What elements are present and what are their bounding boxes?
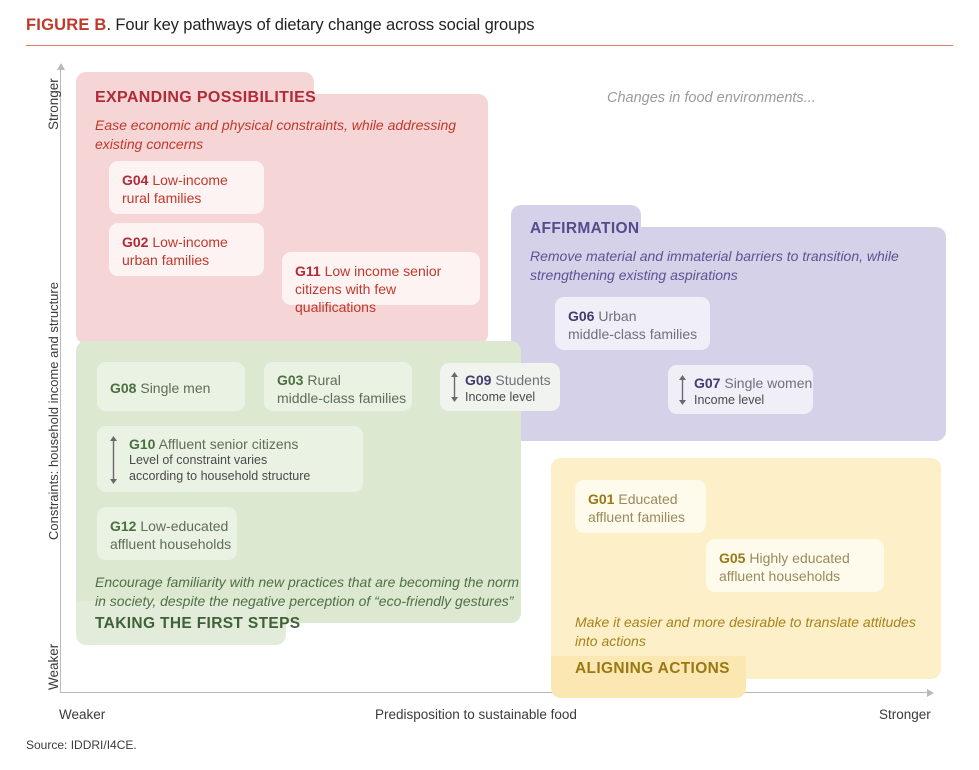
panel-title-affirmation: AFFIRMATION (530, 220, 639, 238)
panel-description-taking-the-first-steps: Encourage familiarity with new practices… (95, 573, 520, 611)
group-label: Low-income (148, 172, 227, 188)
double-arrow-icon (677, 374, 690, 406)
panel-description-aligning-actions: Make it easier and more desirable to tra… (575, 613, 925, 651)
header-divider (26, 45, 953, 46)
panel-description-affirmation: Remove material and immaterial barriers … (530, 247, 930, 285)
panel-title-aligning-actions: ALIGNING ACTIONS (575, 660, 730, 678)
group-label-sub: Income level (694, 392, 813, 408)
group-label: Low-educated (136, 518, 228, 534)
source-note: Source: IDDRI/I4CE. (26, 738, 137, 752)
group-id: G06 (568, 308, 594, 324)
group-id: G10 (129, 436, 155, 452)
group-card-g07[interactable]: G07 Single women Income level (668, 365, 813, 414)
group-id: G08 (110, 380, 136, 396)
food-environments-annotation: Changes in food environments... (607, 90, 816, 106)
group-id: G03 (277, 372, 303, 388)
double-arrow-icon (108, 435, 121, 485)
x-axis-title: Predisposition to sustainable food (375, 707, 577, 722)
group-label-line2: middle-class families (277, 390, 406, 406)
y-axis-top-label: Stronger (46, 78, 61, 130)
group-label: Single women (720, 375, 812, 391)
figure-label: FIGURE B (26, 16, 106, 34)
figure-header: FIGURE B. Four key pathways of dietary c… (26, 16, 953, 35)
page-title: FIGURE B. Four key pathways of dietary c… (26, 16, 953, 35)
figure-title-text: . Four key pathways of dietary change ac… (106, 16, 534, 34)
panel-expanding-possibilities[interactable]: EXPANDING POSSIBILITIES Ease economic an… (76, 72, 488, 344)
group-label-line2: middle-class families (568, 326, 697, 342)
group-label: Urban (594, 308, 636, 324)
group-card-g12[interactable]: G12 Low-educated affluent households (97, 507, 237, 560)
group-label: Affluent senior citizens (155, 436, 298, 452)
x-axis-right-label: Stronger (879, 707, 931, 722)
group-id: G11 (295, 263, 321, 279)
panel-aligning-actions[interactable]: Make it easier and more desirable to tra… (551, 458, 941, 698)
y-axis-arrowhead-icon (57, 63, 65, 70)
group-label: Highly educated (745, 550, 849, 566)
group-id: G05 (719, 550, 745, 566)
group-card-g04[interactable]: G04 Low-income rural families (109, 161, 264, 214)
group-id: G07 (694, 375, 720, 391)
group-id: G04 (122, 172, 148, 188)
group-id: G12 (110, 518, 136, 534)
panel-title-taking-the-first-steps: TAKING THE FIRST STEPS (95, 615, 300, 633)
group-label: Low-income (148, 234, 227, 250)
group-label-line2: affluent households (719, 568, 840, 584)
group-card-g10[interactable]: G10 Affluent senior citizens Level of co… (97, 426, 363, 492)
group-label: Low income senior (321, 263, 442, 279)
group-id: G01 (588, 491, 614, 507)
group-label-line2: affluent households (110, 536, 231, 552)
group-label-sub: Income level (465, 389, 560, 405)
panel-description-expanding-possibilities: Ease economic and physical constraints, … (95, 116, 465, 154)
group-id: G02 (122, 234, 148, 250)
panel-affirmation[interactable]: AFFIRMATION Remove material and immateri… (511, 205, 946, 441)
group-card-g08[interactable]: G08 Single men (97, 362, 245, 411)
group-label: Single men (136, 380, 210, 396)
group-card-g05[interactable]: G05 Highly educated affluent households (706, 539, 884, 592)
group-card-g02[interactable]: G02 Low-income urban families (109, 223, 264, 276)
group-label-sub2: according to household structure (129, 469, 363, 485)
panel-title-expanding-possibilities: EXPANDING POSSIBILITIES (95, 89, 316, 107)
y-axis-title: Constraints: household income and struct… (46, 282, 61, 540)
group-card-g11[interactable]: G11 Low income senior citizens with few … (282, 252, 480, 305)
group-card-g01[interactable]: G01 Educated affluent families (575, 480, 706, 533)
group-label-line2: rural families (122, 190, 201, 206)
group-label-sub: Level of constraint varies (129, 453, 363, 469)
group-label: Rural (303, 372, 340, 388)
group-label: Students (491, 372, 550, 388)
group-label-line2: urban families (122, 252, 209, 268)
x-axis-left-label: Weaker (59, 707, 105, 722)
group-card-g03[interactable]: G03 Rural middle-class families (264, 362, 412, 411)
group-label-line2: affluent families (588, 509, 685, 525)
group-id: G09 (465, 372, 491, 388)
panel-taking-the-first-steps[interactable]: Encourage familiarity with new practices… (76, 341, 521, 645)
group-label: Educated (614, 491, 677, 507)
y-axis-bottom-label: Weaker (46, 644, 61, 690)
group-card-g09[interactable]: G09 Students Income level (440, 363, 560, 411)
group-card-g06[interactable]: G06 Urban middle-class families (555, 297, 710, 350)
double-arrow-icon (449, 371, 462, 403)
